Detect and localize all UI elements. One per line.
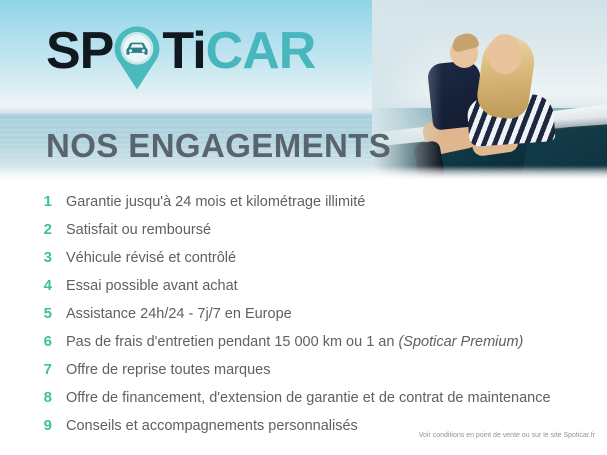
list-item: 9 Conseils et accompagnements personnali… xyxy=(0,417,607,445)
list-item: 7 Offre de reprise toutes marques xyxy=(0,361,607,389)
spoticar-commitments-poster: SP Ti CAR NOS ENGAGEMENTS 1 Gar xyxy=(0,0,607,455)
item-number: 8 xyxy=(0,389,52,406)
item-text-emphasis: (Spoticar Premium) xyxy=(398,334,523,350)
item-number: 1 xyxy=(0,193,52,210)
item-text-main: Offre de reprise toutes marques xyxy=(66,362,270,378)
item-number: 6 xyxy=(0,333,52,350)
list-item: 4 Essai possible avant achat xyxy=(0,277,607,305)
item-number: 3 xyxy=(0,249,52,266)
item-number: 9 xyxy=(0,417,52,434)
item-number: 5 xyxy=(0,305,52,322)
list-item: 3 Véhicule révisé et contrôlé xyxy=(0,249,607,277)
item-number: 7 xyxy=(0,361,52,378)
item-number: 2 xyxy=(0,221,52,238)
logo-text-sp: SP xyxy=(46,25,113,77)
item-number: 4 xyxy=(0,277,52,294)
item-text: Pas de frais d'entretien pendant 15 000 … xyxy=(66,334,523,350)
item-text: Assistance 24h/24 - 7j/7 en Europe xyxy=(66,306,292,322)
list-item: 8 Offre de financement, d'extension de g… xyxy=(0,389,607,417)
hero-photo xyxy=(372,0,607,181)
item-text-main: Véhicule révisé et contrôlé xyxy=(66,250,236,266)
item-text: Offre de financement, d'extension de gar… xyxy=(66,390,551,406)
list-item: 1 Garantie jusqu'à 24 mois et kilométrag… xyxy=(0,193,607,221)
spoticar-logo: SP Ti CAR xyxy=(46,22,315,80)
item-text: Véhicule révisé et contrôlé xyxy=(66,250,236,266)
map-pin-car-icon xyxy=(113,25,161,91)
item-text-main: Offre de financement, d'extension de gar… xyxy=(66,390,551,406)
commitments-list: 1 Garantie jusqu'à 24 mois et kilométrag… xyxy=(0,193,607,445)
item-text-main: Conseils et accompagnements personnalisé… xyxy=(66,418,358,434)
list-item: 2 Satisfait ou remboursé xyxy=(0,221,607,249)
page-title: NOS ENGAGEMENTS xyxy=(46,126,391,166)
item-text-main: Garantie jusqu'à 24 mois et kilométrage … xyxy=(66,194,365,210)
item-text: Conseils et accompagnements personnalisé… xyxy=(66,418,358,434)
item-text: Offre de reprise toutes marques xyxy=(66,362,270,378)
disclaimer-text: Voir conditions en point de vente ou sur… xyxy=(419,432,595,439)
logo-text-car: CAR xyxy=(206,25,316,77)
list-item: 6 Pas de frais d'entretien pendant 15 00… xyxy=(0,333,607,361)
item-text-main: Assistance 24h/24 - 7j/7 en Europe xyxy=(66,306,292,322)
item-text: Satisfait ou remboursé xyxy=(66,222,211,238)
banner-bottom-gradient xyxy=(0,165,607,181)
item-text: Garantie jusqu'à 24 mois et kilométrage … xyxy=(66,194,365,210)
item-text-main: Essai possible avant achat xyxy=(66,278,238,294)
item-text-main: Satisfait ou remboursé xyxy=(66,222,211,238)
logo-text-ti: Ti xyxy=(162,25,205,77)
banner-hero: SP Ti CAR NOS ENGAGEMENTS xyxy=(0,0,607,181)
woman-head xyxy=(488,34,522,74)
list-item: 5 Assistance 24h/24 - 7j/7 en Europe xyxy=(0,305,607,333)
item-text-main: Pas de frais d'entretien pendant 15 000 … xyxy=(66,334,398,350)
item-text: Essai possible avant achat xyxy=(66,278,238,294)
